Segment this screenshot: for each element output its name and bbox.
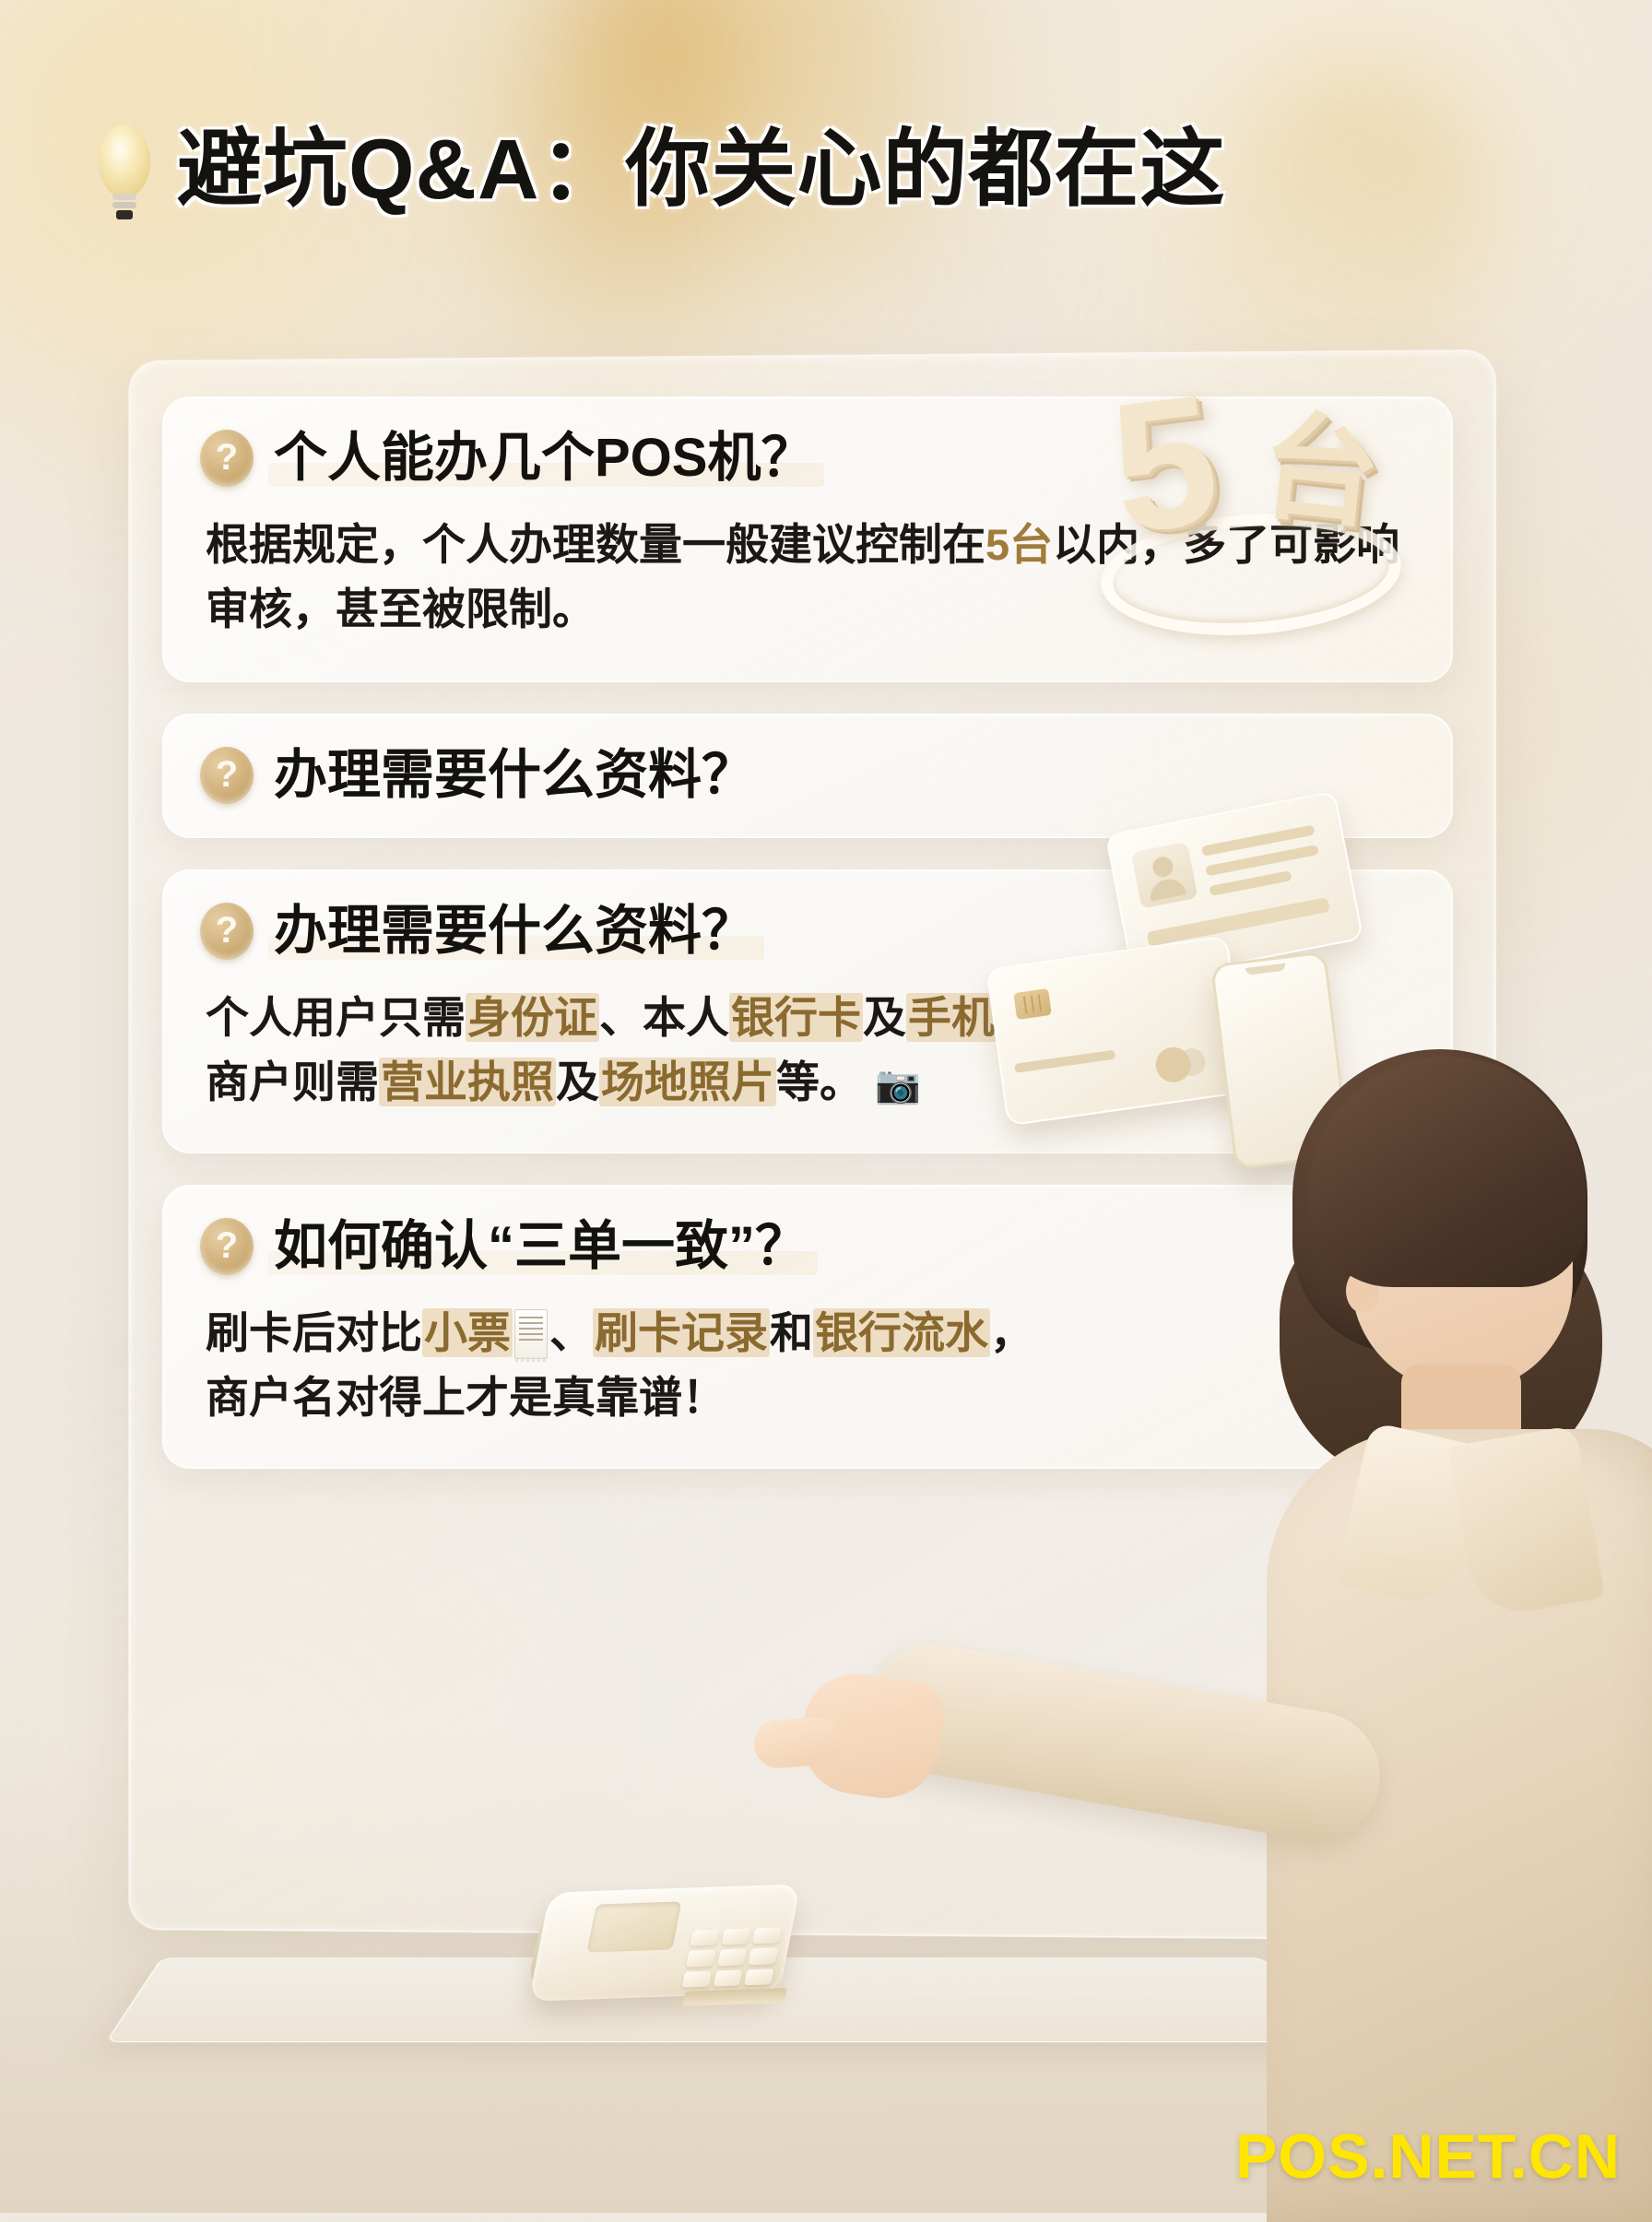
question-header: ? 个人能办几个POS机？ <box>200 429 1411 489</box>
woman-3d-character <box>1171 996 1652 2213</box>
qa-card[interactable]: ? 办理需要什么资料？ <box>162 714 1453 838</box>
question-mark-icon: ? <box>200 903 254 960</box>
lightbulb-icon <box>88 118 160 221</box>
pos-card-slot <box>682 1988 787 2006</box>
question-title: 办理需要什么资料？ <box>274 746 755 806</box>
highlight-phone-number: 手机号 <box>906 993 1040 1042</box>
highlight-swipe-record: 刷卡记录 <box>593 1308 770 1357</box>
page-header: 避坑Q&A：你关心的都在这 <box>88 118 1225 221</box>
highlight-bank-card: 银行卡 <box>729 993 863 1042</box>
watermark: POS.NET.CN <box>1235 2121 1621 2192</box>
pointing-finger <box>752 1716 844 1770</box>
highlight-site-photo: 场地照片 <box>599 1058 776 1106</box>
highlight-receipt: 小票 <box>422 1308 513 1357</box>
pos-screen <box>587 1901 682 1952</box>
question-title: 办理需要什么资料？ <box>274 902 755 962</box>
question-mark-icon: ? <box>200 430 254 487</box>
page-title: 避坑Q&A：你关心的都在这 <box>177 127 1225 212</box>
question-title: 个人能办几个POS机？ <box>274 429 815 489</box>
question-mark-icon: ? <box>200 747 254 804</box>
question-header: ? 办理需要什么资料？ <box>200 746 1411 806</box>
highlight-five-units: 5台 <box>985 520 1053 569</box>
pos-terminal-3d <box>513 1862 817 2038</box>
question-title: 如何确认“三单一致”？ <box>274 1217 808 1277</box>
highlight-business-license: 营业执照 <box>379 1058 556 1106</box>
highlight-id-card: 身份证 <box>466 993 599 1042</box>
answer-body: 根据规定，个人办理数量一般建议控制在5台以内，多了可影响审核，甚至被限制。 <box>206 513 1411 643</box>
pos-keypad <box>682 1927 783 1987</box>
receipt-icon <box>514 1309 548 1359</box>
qa-card[interactable]: ? 个人能办几个POS机？ 根据规定，个人办理数量一般建议控制在5台以内，多了可… <box>162 396 1453 682</box>
question-mark-icon: ? <box>200 1218 254 1275</box>
camera-icon: 📷 <box>875 1065 921 1105</box>
highlight-bank-statement: 银行流水 <box>813 1308 990 1357</box>
question-header: ? 办理需要什么资料？ <box>200 902 1411 962</box>
